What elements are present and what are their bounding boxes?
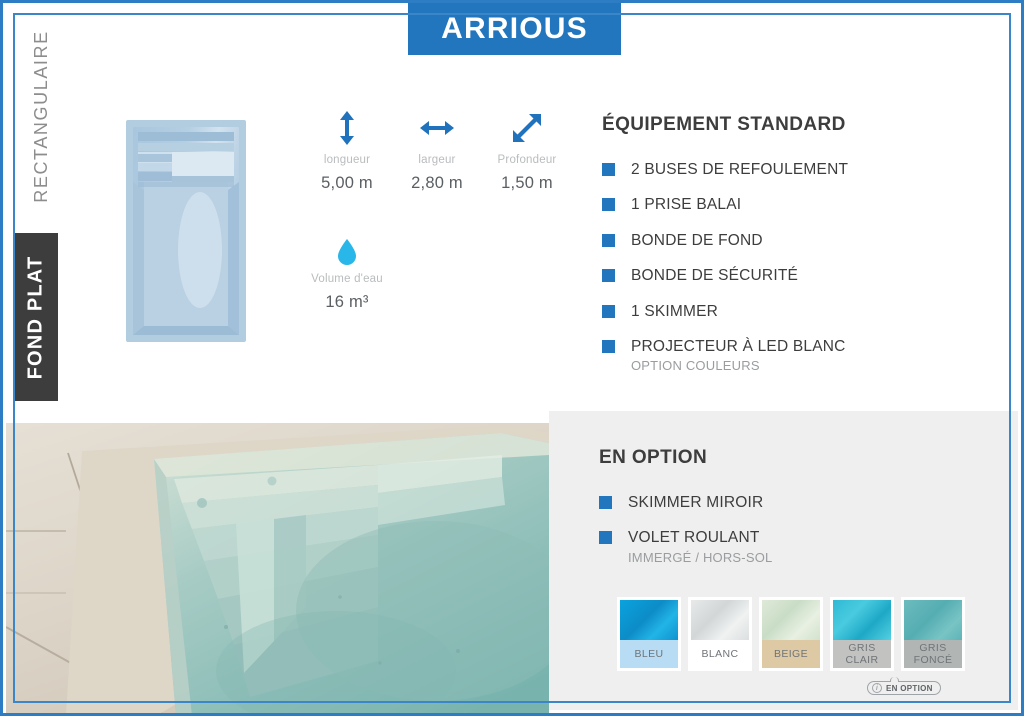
list-item: 1 SKIMMER xyxy=(602,302,1002,321)
water-drop-icon xyxy=(302,235,392,269)
spec-length-value: 5,00 m xyxy=(302,174,392,193)
spec-width: largeur 2,80 m xyxy=(392,106,482,193)
swatch-texture xyxy=(833,600,891,640)
list-item: VOLET ROULANT IMMERGÉ / HORS-SOL xyxy=(599,528,999,564)
options-content: EN OPTION SKIMMER MIROIR VOLET ROULANT I… xyxy=(599,447,999,581)
top-section: RECTANGULAIRE xyxy=(6,6,1018,411)
list-item: PROJECTEUR À LED BLANC OPTION COULEURS xyxy=(602,337,1002,373)
spec-length-label: longueur xyxy=(302,154,392,166)
shape-label: RECTANGULAIRE xyxy=(20,20,62,212)
swatch-name-line2: CLAIR xyxy=(846,654,879,666)
color-swatch-blanc[interactable]: BLANC xyxy=(688,597,752,671)
swatch-caption: BEIGE xyxy=(762,640,820,668)
bottom-type-label: FOND PLAT xyxy=(14,233,58,401)
color-swatch-list: BLEU BLANC BEIGE xyxy=(617,597,965,671)
bullet-square-icon xyxy=(602,234,615,247)
swatch-name: BEIGE xyxy=(774,648,808,660)
option-item-label: SKIMMER MIROIR xyxy=(628,493,763,512)
spec-depth-value: 1,50 m xyxy=(482,174,572,193)
page-title-text: ARRIOUS xyxy=(441,12,588,46)
swatch-texture xyxy=(620,600,678,640)
list-item: 1 PRISE BALAI xyxy=(602,195,1002,214)
options-title: EN OPTION xyxy=(599,447,999,469)
badge-pointer xyxy=(890,677,899,682)
swatch-caption: GRIS FONCÉ xyxy=(904,640,962,668)
list-item: BONDE DE FOND xyxy=(602,231,1002,250)
option-item-sub: IMMERGÉ / HORS-SOL xyxy=(628,550,772,565)
list-item: SKIMMER MIROIR xyxy=(599,493,999,512)
swatch-name: GRIS xyxy=(848,642,875,654)
page-title: ARRIOUS xyxy=(408,3,621,55)
pool-photo xyxy=(6,411,549,716)
equipment-item-label: BONDE DE FOND xyxy=(631,231,763,250)
swatch-texture xyxy=(904,600,962,640)
equipment-item-label: BONDE DE SÉCURITÉ xyxy=(631,266,798,285)
status-badge-label: EN OPTION xyxy=(886,684,933,693)
status-badge: i EN OPTION xyxy=(867,681,941,695)
swatch-caption: GRIS CLAIR xyxy=(833,640,891,668)
spec-volume-value: 16 m³ xyxy=(302,293,392,312)
info-icon: i xyxy=(872,683,882,693)
bullet-square-icon xyxy=(599,496,612,509)
options-section: EN OPTION SKIMMER MIROIR VOLET ROULANT I… xyxy=(549,411,1018,710)
color-swatch-gris-fonce[interactable]: GRIS FONCÉ xyxy=(901,597,965,671)
bullet-square-icon xyxy=(602,269,615,282)
list-item: 2 BUSES DE REFOULEMENT xyxy=(602,160,1002,179)
swatch-caption: BLANC xyxy=(691,640,749,668)
bottom-type-label-text: FOND PLAT xyxy=(25,255,48,379)
spec-volume-label: Volume d'eau xyxy=(302,273,392,285)
width-arrow-icon xyxy=(392,106,482,150)
shape-label-text: RECTANGULAIRE xyxy=(31,30,52,203)
spec-length: longueur 5,00 m xyxy=(302,106,392,193)
bullet-square-icon xyxy=(602,198,615,211)
list-item: BONDE DE SÉCURITÉ xyxy=(602,266,1002,285)
bullet-square-icon xyxy=(602,340,615,353)
equipment-section: ÉQUIPEMENT STANDARD 2 BUSES DE REFOULEME… xyxy=(602,114,1002,389)
bullet-square-icon xyxy=(602,163,615,176)
equipment-title: ÉQUIPEMENT STANDARD xyxy=(602,114,1002,136)
spec-width-label: largeur xyxy=(392,154,482,166)
bullet-square-icon xyxy=(602,305,615,318)
equipment-item-label: 1 PRISE BALAI xyxy=(631,195,741,214)
diagonal-arrow-icon xyxy=(482,106,572,150)
height-arrow-icon xyxy=(302,106,392,150)
spec-width-value: 2,80 m xyxy=(392,174,482,193)
swatch-texture xyxy=(691,600,749,640)
specs-block: longueur 5,00 m largeur 2,80 m xyxy=(302,106,572,312)
spec-depth-label: Profondeur xyxy=(482,154,572,166)
color-swatch-bleu[interactable]: BLEU xyxy=(617,597,681,671)
swatch-name: BLEU xyxy=(634,648,663,660)
swatch-name: GRIS xyxy=(919,642,946,654)
bullet-square-icon xyxy=(599,531,612,544)
spec-depth: Profondeur 1,50 m xyxy=(482,106,572,193)
color-swatch-beige[interactable]: BEIGE xyxy=(759,597,823,671)
color-swatch-gris-clair[interactable]: GRIS CLAIR xyxy=(830,597,894,671)
product-sheet: RECTANGULAIRE xyxy=(0,0,1024,716)
swatch-caption: BLEU xyxy=(620,640,678,668)
spec-volume: Volume d'eau 16 m³ xyxy=(302,235,392,312)
equipment-item-sub: OPTION COULEURS xyxy=(631,358,846,373)
spec-row: longueur 5,00 m largeur 2,80 m xyxy=(302,106,572,193)
option-item-label: VOLET ROULANT xyxy=(628,529,760,546)
swatch-name: BLANC xyxy=(701,648,738,660)
equipment-item-label: 2 BUSES DE REFOULEMENT xyxy=(631,160,848,179)
equipment-item-label: 1 SKIMMER xyxy=(631,302,718,321)
pool-render-image xyxy=(124,118,248,344)
equipment-item-label: PROJECTEUR À LED BLANC xyxy=(631,338,846,355)
swatch-texture xyxy=(762,600,820,640)
swatch-name-line2: FONCÉ xyxy=(914,654,953,666)
